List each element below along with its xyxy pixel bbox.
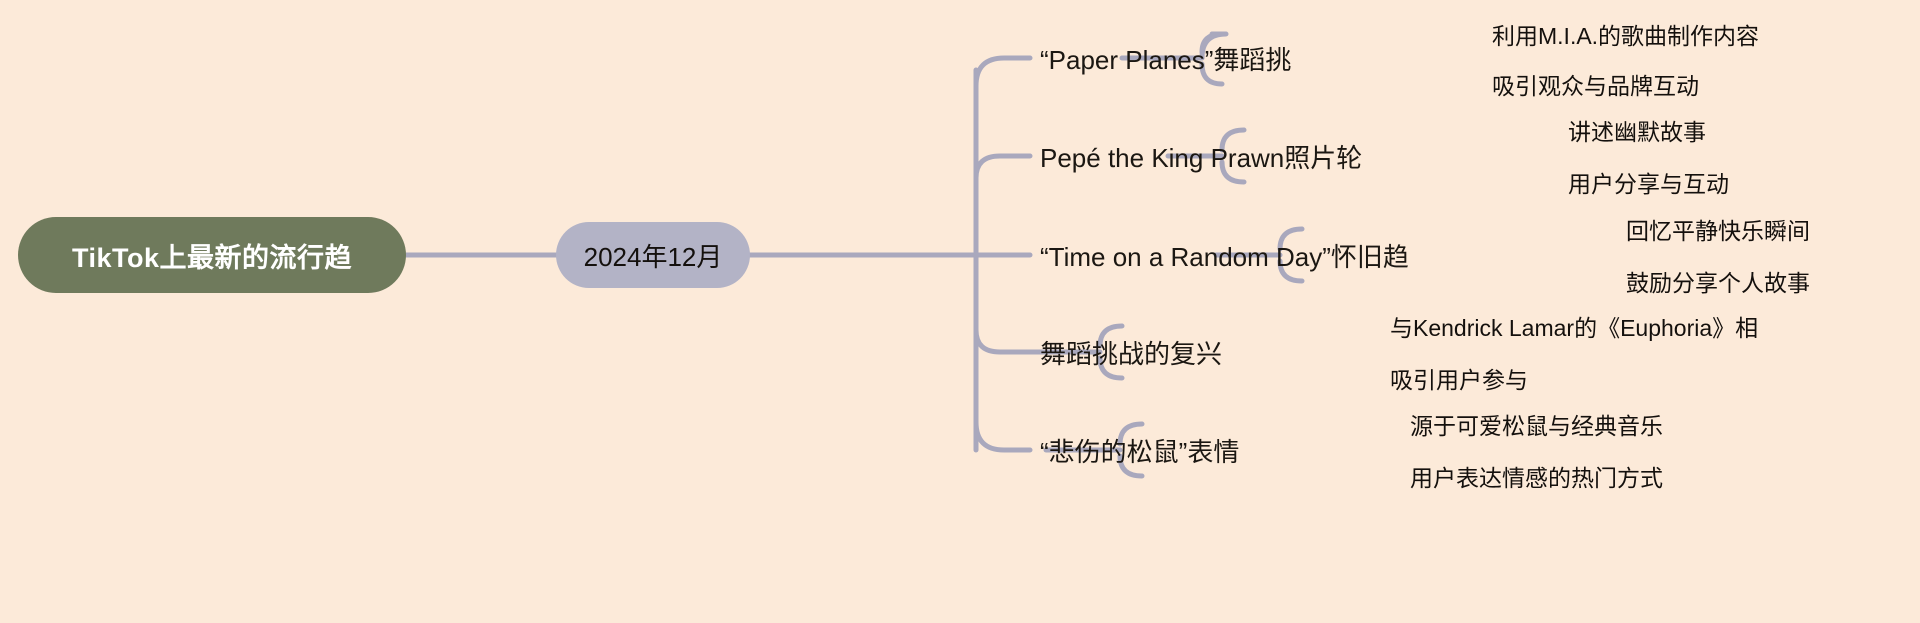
branch-node-5[interactable]: “悲伤的松鼠”表情 [1040,432,1239,468]
leaf-node-3-2[interactable]: 鼓励分享个人故事 [1626,265,1810,297]
level2-node-date[interactable]: 2024年12月 [556,222,750,288]
connector-branch-4 [976,330,1030,352]
root-node[interactable]: TikTok上最新的流行趋 [18,217,406,293]
branch-label-2: Pepé the King Prawn照片轮 [1040,138,1362,175]
leaf-node-3-1[interactable]: 回忆平静快乐瞬间 [1626,213,1810,245]
connector-branch-5 [976,422,1030,450]
leaf-node-5-1[interactable]: 源于可爱松鼠与经典音乐 [1410,408,1663,440]
leaf-node-1-2[interactable]: 吸引观众与品牌互动 [1492,68,1699,100]
leaf-label-5-1: 源于可爱松鼠与经典音乐 [1410,407,1663,441]
leaf-label-3-1: 回忆平静快乐瞬间 [1626,212,1810,246]
leaf-node-4-2[interactable]: 吸引用户参与 [1390,362,1528,394]
branch-node-1[interactable]: “Paper Planes”舞蹈挑 [1040,40,1291,76]
leaf-node-1-1[interactable]: 利用M.I.A.的歌曲制作内容 [1492,18,1759,50]
branch-node-4[interactable]: 舞蹈挑战的复兴 [1040,334,1222,370]
mindmap-canvas: TikTok上最新的流行趋 2024年12月 “Paper Planes”舞蹈挑… [0,0,1920,623]
leaf-node-2-2[interactable]: 用户分享与互动 [1568,166,1729,198]
branch-label-3: “Time on a Random Day”怀旧趋 [1040,237,1409,274]
leaf-label-5-2: 用户表达情感的热门方式 [1410,459,1663,493]
leaf-node-5-2[interactable]: 用户表达情感的热门方式 [1410,460,1663,492]
branch-node-2[interactable]: Pepé the King Prawn照片轮 [1040,138,1362,174]
branch-label-1: “Paper Planes”舞蹈挑 [1040,40,1291,77]
leaf-label-2-1: 讲述幽默故事 [1568,113,1706,147]
leaf-label-4-2: 吸引用户参与 [1390,361,1528,395]
leaf-label-1-2: 吸引观众与品牌互动 [1492,67,1699,101]
level2-node-label: 2024年12月 [584,237,723,274]
leaf-label-3-2: 鼓励分享个人故事 [1626,264,1810,298]
leaf-node-4-1[interactable]: 与Kendrick Lamar的《Euphoria》相 [1390,310,1758,342]
branch-label-4: 舞蹈挑战的复兴 [1040,334,1222,371]
branch-label-5: “悲伤的松鼠”表情 [1040,432,1239,469]
connector-branch-1 [976,58,1030,86]
root-node-label: TikTok上最新的流行趋 [72,236,352,275]
connector-branch-2 [976,156,1030,178]
branch-node-3[interactable]: “Time on a Random Day”怀旧趋 [1040,237,1409,273]
leaf-label-1-1: 利用M.I.A.的歌曲制作内容 [1492,17,1759,51]
leaf-label-4-1: 与Kendrick Lamar的《Euphoria》相 [1390,309,1758,343]
leaf-label-2-2: 用户分享与互动 [1568,165,1729,199]
leaf-node-2-1[interactable]: 讲述幽默故事 [1568,114,1706,146]
